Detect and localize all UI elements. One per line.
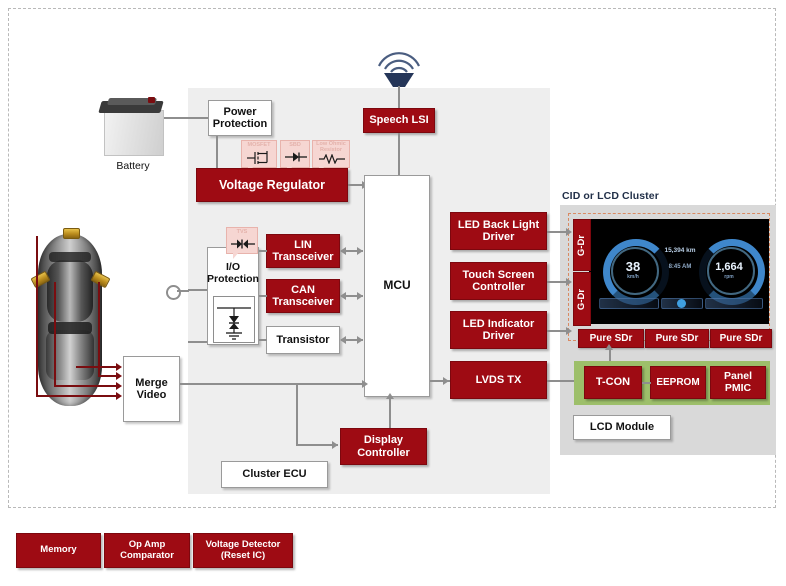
merge-video-block[interactable]: Merge Video — [123, 356, 180, 422]
line-tcon-to-eeprom — [642, 382, 651, 384]
io-protection-schematic — [213, 296, 255, 343]
line-io-input-lower — [188, 341, 207, 343]
line-speech-lsi-to-mcu — [398, 133, 400, 175]
led-backlight-driver-block[interactable]: LED Back Light Driver — [450, 212, 547, 250]
line-battery-to-power-protection — [164, 117, 212, 119]
cluster-display-screen: 38 km/h 1,664 rpm 15,394 km 8:45 AM — [589, 219, 769, 324]
line-io-to-lin — [259, 250, 267, 252]
battery-label: Battery — [98, 160, 168, 172]
connector-port-icon — [166, 285, 181, 300]
screen-clock: 8:45 AM — [651, 264, 709, 270]
gate-driver-upper[interactable]: G-Dr — [573, 219, 591, 271]
arrow-transistor-left — [340, 336, 346, 344]
line-camera-right-h — [98, 375, 118, 377]
line-io-to-transistor — [259, 339, 267, 341]
callout-tvs-label: TVS — [237, 229, 248, 235]
arrow-camera-front — [116, 392, 122, 400]
line-power-protection-to-regulator — [216, 136, 218, 170]
arrow-display-controller-to-mcu — [386, 393, 394, 399]
legend-memory[interactable]: Memory — [16, 533, 101, 568]
can-transceiver-block[interactable]: CAN Transceiver — [266, 279, 340, 313]
voltage-regulator-block[interactable]: Voltage Regulator — [196, 168, 348, 202]
arrow-can-right — [357, 292, 363, 300]
arrow-mcu-to-lvds — [443, 377, 449, 385]
arrow-lin-right — [357, 247, 363, 255]
line-camera-front — [36, 236, 38, 396]
arrow-merge-video-to-mcu — [362, 380, 368, 388]
line-regulator-to-mcu — [348, 184, 363, 186]
line-camera-rear-h — [76, 366, 118, 368]
line-io-input-upper — [188, 289, 207, 291]
speech-lsi-block[interactable]: Speech LSI — [363, 108, 435, 133]
arrow-can-left — [340, 292, 346, 300]
led-indicator-driver-block[interactable]: LED Indicator Driver — [450, 311, 547, 349]
callout-tvs: TVS — [226, 227, 258, 254]
arrow-backlight-to-cid — [566, 228, 572, 236]
camera-module-front — [63, 228, 80, 239]
callout-sbd-label: SBD — [289, 142, 301, 148]
eeprom-block[interactable]: EEPROM — [650, 366, 706, 399]
arrow-tcon-to-sdr — [605, 344, 613, 350]
battery-terminal — [148, 97, 155, 103]
callout-mosfet-label: MOSFET — [248, 142, 271, 148]
legend-op-amp-comparator[interactable]: Op Amp Comparator — [104, 533, 190, 568]
source-driver-3[interactable]: Pure SDr — [710, 329, 772, 348]
arrow-lin-left — [340, 247, 346, 255]
display-controller-block[interactable]: Display Controller — [340, 428, 427, 465]
lcd-module-block[interactable]: LCD Module — [573, 415, 671, 440]
line-camera-front-h — [36, 395, 118, 397]
screen-bar-right — [705, 298, 763, 309]
lin-transceiver-block[interactable]: LIN Transceiver — [266, 234, 340, 268]
diagram-canvas: CID or LCD Cluster Battery Speech LSI Po… — [0, 0, 786, 586]
legend-voltage-detector[interactable]: Voltage Detector (Reset IC) — [193, 533, 293, 568]
right-gauge-unit: rpm — [699, 274, 759, 280]
lvds-tx-block[interactable]: LVDS TX — [450, 361, 547, 399]
left-gauge-unit: km/h — [603, 274, 663, 280]
arrow-camera-left — [116, 382, 122, 390]
battery-illustration: Battery — [98, 92, 168, 162]
line-camera-right — [98, 282, 100, 376]
arrow-camera-rear — [116, 363, 122, 371]
cluster-ecu-block[interactable]: Cluster ECU — [221, 461, 328, 488]
screen-odometer: 15,394 km — [651, 247, 709, 254]
line-port-to-io — [177, 290, 189, 292]
line-display-controller-to-mcu — [389, 398, 391, 428]
screen-bar-left — [599, 298, 659, 309]
gate-driver-upper-label: G-Dr — [577, 234, 588, 255]
line-speech-icon-to-lsi — [398, 86, 400, 108]
arrow-to-display-controller — [332, 441, 338, 449]
arrow-touch-to-cid — [566, 278, 572, 286]
arrow-transistor-right — [357, 336, 363, 344]
panel-pmic-block[interactable]: Panel PMIC — [710, 366, 766, 399]
line-camera-left-h — [54, 385, 118, 387]
mcu-block[interactable]: MCU — [364, 175, 430, 397]
callout-low-ohmic-resistor: Low Ohmic Resistor — [312, 140, 350, 168]
line-bus-to-display-controller-v — [296, 383, 298, 445]
callout-mosfet: MOSFET — [241, 140, 277, 168]
car-rear-window — [49, 252, 91, 262]
car-top-view-illustration — [24, 230, 116, 410]
power-protection-block[interactable]: Power Protection — [208, 100, 272, 136]
line-camera-left — [54, 282, 56, 386]
transistor-block[interactable]: Transistor — [266, 326, 340, 354]
arrow-indicator-to-cid — [566, 327, 572, 335]
callout-sbd: SBD — [280, 140, 310, 168]
battery-body — [104, 110, 164, 156]
cid-panel-title: CID or LCD Cluster — [562, 190, 659, 202]
line-merge-video-to-mcu — [180, 383, 363, 385]
gate-driver-lower-label: G-Dr — [577, 288, 588, 309]
tcon-block[interactable]: T-CON — [584, 366, 642, 399]
line-tcon-to-sdr — [609, 348, 611, 362]
gate-driver-lower[interactable]: G-Dr — [573, 272, 591, 326]
touch-screen-controller-block[interactable]: Touch Screen Controller — [450, 262, 547, 300]
callout-resistor-label: Low Ohmic Resistor — [313, 142, 349, 153]
line-io-to-can — [259, 295, 267, 297]
antenna-microphone-icon — [370, 36, 428, 88]
arrow-camera-right — [116, 372, 122, 380]
source-driver-2[interactable]: Pure SDr — [645, 329, 709, 348]
screen-indicator-dot — [677, 299, 686, 308]
